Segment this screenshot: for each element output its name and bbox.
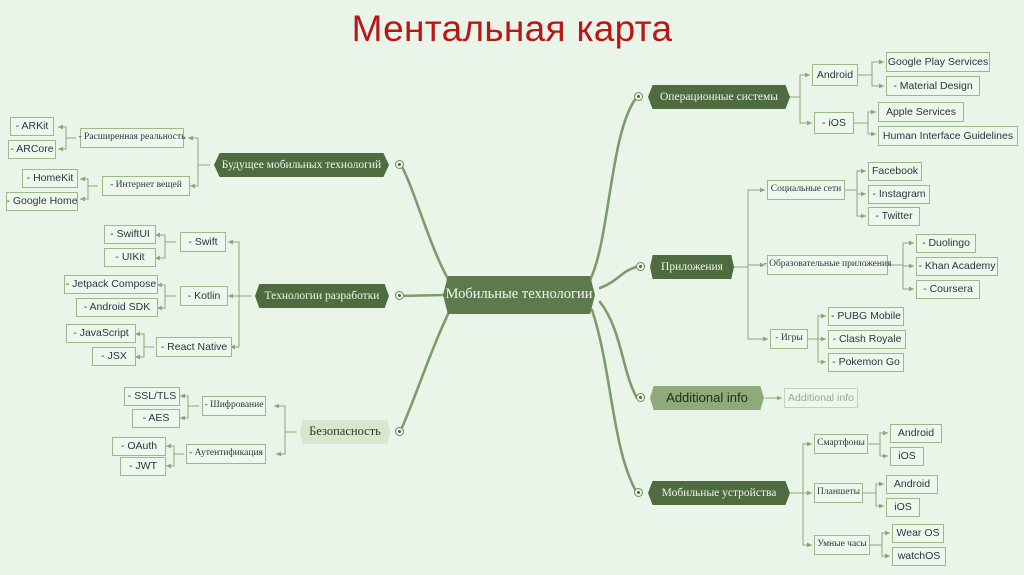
node-social-networks[interactable]: Социальные сети xyxy=(767,180,845,200)
branch-future-tech[interactable]: Будущее мобильных технологий xyxy=(214,153,389,177)
leaf-label: - OAuth xyxy=(121,441,157,452)
branch-label: Additional info xyxy=(666,391,748,405)
node-smartwatches[interactable]: Умные часы xyxy=(814,535,870,555)
node-label: Социальные сети xyxy=(771,185,841,195)
leaf-label: - Coursera xyxy=(923,284,973,295)
leaf-facebook[interactable]: Facebook xyxy=(868,162,922,181)
hub-operating-systems[interactable] xyxy=(634,92,643,101)
branch-label: Технологии разработки xyxy=(265,290,380,303)
node-encryption[interactable]: - Шифрование xyxy=(202,396,266,416)
leaf-label: Apple Services xyxy=(886,107,956,118)
leaf-label: - Clash Royale xyxy=(833,334,902,345)
hub-security[interactable] xyxy=(395,427,404,436)
leaf-label: - Twitter xyxy=(875,211,912,222)
node-label: - Игры xyxy=(775,334,802,344)
leaf-homekit[interactable]: - HomeKit xyxy=(22,169,78,188)
hub-future-tech[interactable] xyxy=(395,160,404,169)
leaf-uikit[interactable]: - UIKit xyxy=(104,248,156,267)
leaf-label: Google Play Services xyxy=(888,57,988,68)
leaf-jsx[interactable]: - JSX xyxy=(92,347,136,366)
node-label: Additional info xyxy=(788,393,854,404)
leaf-label: Wear OS xyxy=(897,528,940,539)
node-internet-of-things[interactable]: - Интернет вещей xyxy=(102,176,190,196)
node-label: - Образовательные приложения xyxy=(764,260,892,270)
page-title: Ментальная карта xyxy=(0,8,1024,50)
leaf-ssl-tls[interactable]: - SSL/TLS xyxy=(124,387,180,406)
leaf-label: Android xyxy=(894,479,930,490)
node-label: - Шифрование xyxy=(205,401,264,411)
branch-development[interactable]: Технологии разработки xyxy=(255,284,389,308)
leaf-label: - Instagram xyxy=(872,189,925,200)
leaf-label: iOS xyxy=(898,451,916,462)
leaf-label: - AES xyxy=(143,413,170,424)
branch-security[interactable]: Безопасность xyxy=(300,420,390,444)
leaf-arkit[interactable]: - ARKit xyxy=(10,117,54,136)
leaf-label: - PUBG Mobile xyxy=(831,311,901,322)
branch-additional-info[interactable]: Additional info xyxy=(650,386,764,410)
node-augmented-reality[interactable]: - Расширенная реальность xyxy=(80,128,184,148)
node-authentication[interactable]: - Аутентификация xyxy=(186,444,266,464)
leaf-label: - ARCore xyxy=(10,144,53,155)
leaf-aes[interactable]: - AES xyxy=(132,409,180,428)
node-android[interactable]: Android xyxy=(812,64,858,86)
branch-operating-systems[interactable]: Операционные системы xyxy=(648,85,790,109)
node-label: - Аутентификация xyxy=(189,449,263,459)
leaf-label: - Khan Academy xyxy=(918,261,995,272)
node-additional-info-placeholder[interactable]: Additional info xyxy=(784,388,858,408)
leaf-label: - JavaScript xyxy=(73,328,128,339)
node-label: - Swift xyxy=(188,237,217,248)
leaf-jwt[interactable]: - JWT xyxy=(120,457,166,476)
node-label: Планшеты xyxy=(817,488,860,498)
leaf-swiftui[interactable]: - SwiftUI xyxy=(104,225,156,244)
branch-label: Приложения xyxy=(661,261,723,274)
node-label: Умные часы xyxy=(817,540,867,550)
leaf-javascript[interactable]: - JavaScript xyxy=(66,324,136,343)
leaf-label: - Google Home xyxy=(6,196,77,207)
leaf-label: Facebook xyxy=(872,166,918,177)
leaf-label: - Material Design xyxy=(893,81,972,92)
leaf-label: Android xyxy=(898,428,934,439)
branch-label: Мобильные устройства xyxy=(662,487,777,500)
node-label: - Интернет вещей xyxy=(110,181,182,191)
leaf-pokemon-go[interactable]: - Pokemon Go xyxy=(828,353,904,372)
leaf-twitter[interactable]: - Twitter xyxy=(868,207,920,226)
leaf-apple-services[interactable]: Apple Services xyxy=(878,102,964,122)
leaf-smartphones-android[interactable]: Android xyxy=(890,424,942,443)
leaf-pubg-mobile[interactable]: - PUBG Mobile xyxy=(828,307,904,326)
leaf-tablets-ios[interactable]: iOS xyxy=(886,498,920,517)
node-smartphones[interactable]: Смартфоны xyxy=(814,434,868,454)
leaf-label: - JSX xyxy=(101,351,127,362)
branch-label: Безопасность xyxy=(309,425,381,439)
node-kotlin[interactable]: - Kotlin xyxy=(180,286,228,306)
leaf-google-play-services[interactable]: Google Play Services xyxy=(886,52,990,72)
leaf-label: - Pokemon Go xyxy=(832,357,900,368)
leaf-material-design[interactable]: - Material Design xyxy=(886,76,980,96)
leaf-wear-os[interactable]: Wear OS xyxy=(892,524,944,543)
leaf-android-sdk[interactable]: - Android SDK xyxy=(76,298,158,317)
leaf-label: Human Interface Guidelines xyxy=(883,131,1013,142)
node-label: Android xyxy=(817,70,853,81)
leaf-label: - SwiftUI xyxy=(110,229,150,240)
node-ios[interactable]: - iOS xyxy=(814,112,854,134)
central-node-label: Мобильные технологии xyxy=(446,287,593,303)
leaf-label: iOS xyxy=(894,502,912,513)
node-label: - iOS xyxy=(822,118,846,129)
central-node[interactable]: Мобильные технологии xyxy=(443,276,595,314)
leaf-instagram[interactable]: - Instagram xyxy=(868,185,930,204)
leaf-google-home[interactable]: - Google Home xyxy=(6,192,78,211)
leaf-oauth[interactable]: - OAuth xyxy=(112,437,166,456)
leaf-label: - Android SDK xyxy=(84,302,151,313)
leaf-label: - UIKit xyxy=(115,252,144,263)
leaf-arcore[interactable]: - ARCore xyxy=(8,140,56,159)
hub-additional-info[interactable] xyxy=(636,393,645,402)
leaf-label: - JWT xyxy=(129,461,157,472)
node-react-native[interactable]: - React Native xyxy=(156,337,232,357)
leaf-tablets-android[interactable]: Android xyxy=(886,475,938,494)
leaf-label: - HomeKit xyxy=(27,173,74,184)
node-educational-apps[interactable]: - Образовательные приложения xyxy=(767,255,888,275)
node-swift[interactable]: - Swift xyxy=(180,232,226,252)
mindmap-canvas: Ментальная карта xyxy=(0,0,1024,575)
leaf-clash-royale[interactable]: - Clash Royale xyxy=(828,330,906,349)
branch-mobile-devices[interactable]: Мобильные устройства xyxy=(648,481,790,505)
leaf-coursera[interactable]: - Coursera xyxy=(916,280,980,299)
leaf-label: - ARKit xyxy=(16,121,49,132)
leaf-label: - Duolingo xyxy=(922,238,970,249)
leaf-label: - SSL/TLS xyxy=(128,391,176,402)
node-label: - React Native xyxy=(161,342,228,353)
leaf-human-interface-guidelines[interactable]: Human Interface Guidelines xyxy=(878,126,1018,146)
branch-label: Операционные системы xyxy=(660,91,778,104)
branch-applications[interactable]: Приложения xyxy=(650,255,734,279)
leaf-smartphones-ios[interactable]: iOS xyxy=(890,447,924,466)
leaf-khan-academy[interactable]: - Khan Academy xyxy=(916,257,998,276)
leaf-duolingo[interactable]: - Duolingo xyxy=(916,234,976,253)
leaf-label: watchOS xyxy=(898,551,941,562)
node-label: - Расширенная реальность xyxy=(79,133,186,143)
node-games[interactable]: - Игры xyxy=(770,329,808,349)
node-tablets[interactable]: Планшеты xyxy=(814,483,863,503)
hub-mobile-devices[interactable] xyxy=(634,488,643,497)
hub-applications[interactable] xyxy=(636,262,645,271)
node-label: Смартфоны xyxy=(817,439,865,449)
leaf-jetpack-compose[interactable]: - Jetpack Compose xyxy=(64,275,158,294)
hub-development[interactable] xyxy=(395,291,404,300)
leaf-watchos[interactable]: watchOS xyxy=(892,547,946,566)
branch-label: Будущее мобильных технологий xyxy=(222,159,381,172)
leaf-label: - Jetpack Compose xyxy=(66,279,156,290)
node-label: - Kotlin xyxy=(188,291,221,302)
